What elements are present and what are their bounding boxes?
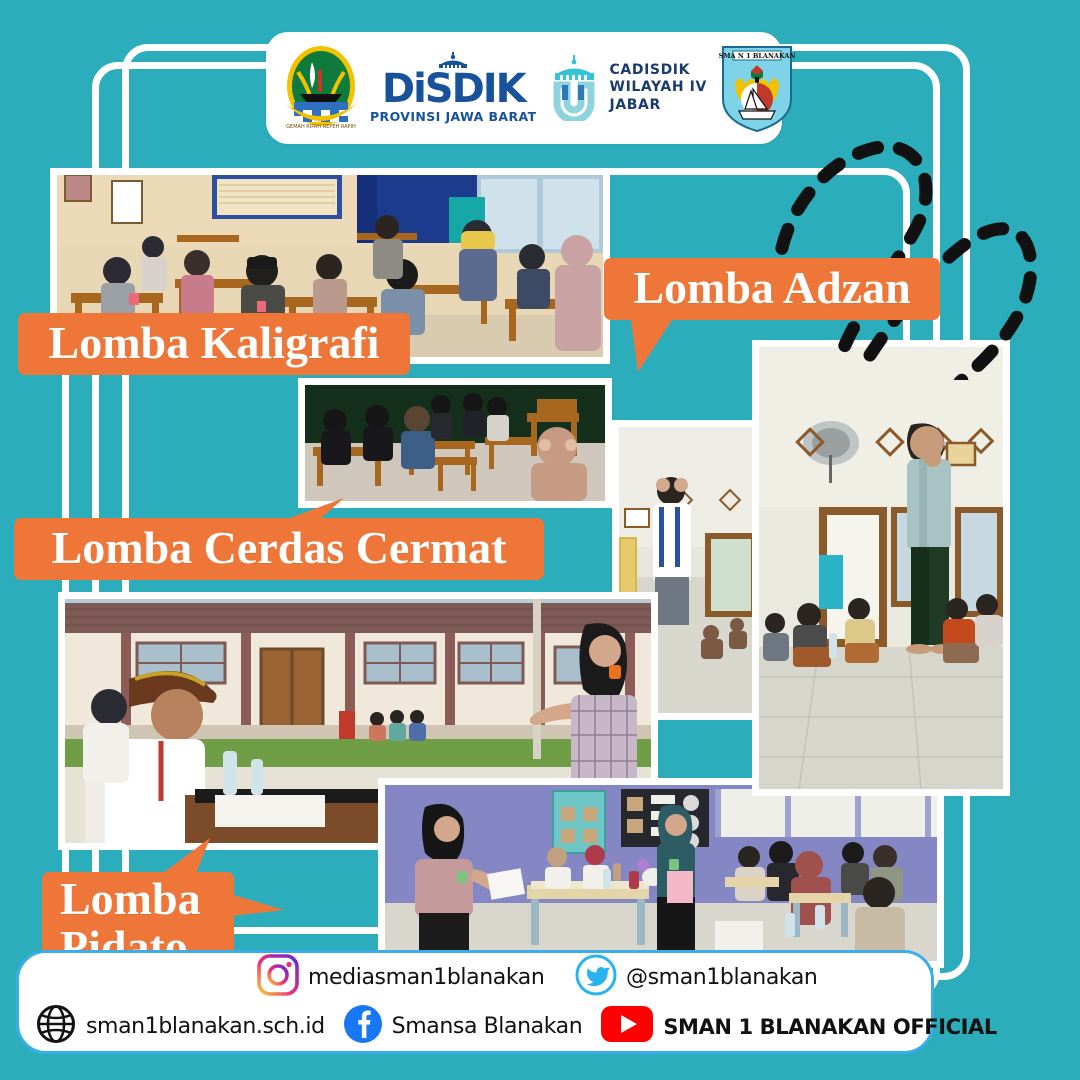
youtube-icon[interactable] <box>600 1004 654 1049</box>
label-kaligrafi-text: Lomba Kaligrafi <box>49 316 380 369</box>
youtube-channel: SMAN 1 BLANAKAN OFFICIAL <box>663 1015 997 1039</box>
footer-item-twitter[interactable]: @sman1blanakan <box>575 954 817 1001</box>
cadisdik-mark-icon <box>547 55 603 121</box>
svg-text:GEMAH RIPAH REPEH RAPIH: GEMAH RIPAH REPEH RAPIH <box>286 124 356 130</box>
header-logo-bar: GEMAH RIPAH REPEH RAPIH DiSDIK PROVINSI <box>266 32 782 144</box>
label-lomba-adzan: Lomba Adzan <box>604 258 940 320</box>
logo-jabar-icon: GEMAH RIPAH REPEH RAPIH <box>282 42 360 134</box>
label-cerdas-text: Lomba Cerdas Cermat <box>52 521 507 574</box>
footer-item-youtube[interactable]: SMAN 1 BLANAKAN OFFICIAL <box>600 1004 997 1049</box>
poster-canvas: GEMAH RIPAH REPEH RAPIH DiSDIK PROVINSI <box>0 0 1080 1080</box>
footer-row-1: mediasman1blanakan @sman1blanakan <box>19 953 931 1002</box>
footer-row-2: sman1blanakan.sch.id Smansa Blanakan <box>19 1002 931 1051</box>
facebook-page: Smansa Blanakan <box>392 1014 583 1039</box>
cadisdik-line3: JABAR <box>610 97 707 115</box>
footer-item-website[interactable]: sman1blanakan.sch.id <box>35 1003 325 1050</box>
footer-social-bar: mediasman1blanakan @sman1blanakan <box>16 950 934 1054</box>
gedung-sate-icon <box>430 52 476 68</box>
logo-disdik-word: DiSDIK <box>382 69 525 109</box>
logo-cadisdik-text: CADISDIK WILAYAH IV JABAR <box>610 62 707 115</box>
website-url: sman1blanakan.sch.id <box>86 1014 325 1039</box>
logo-disdik: DiSDIK PROVINSI JAWA BARAT <box>370 52 537 124</box>
photo-cerdas-cermat <box>298 378 612 508</box>
instagram-icon[interactable] <box>257 954 299 1001</box>
cadisdik-line2: WILAYAH IV <box>610 79 707 97</box>
footer-item-instagram[interactable]: mediasman1blanakan <box>257 954 575 1001</box>
logo-disdik-subtitle: PROVINSI JAWA BARAT <box>370 111 537 124</box>
label-adzan-tail <box>630 314 700 376</box>
label-lomba-kaligrafi: Lomba Kaligrafi <box>18 313 410 375</box>
twitter-handle: @sman1blanakan <box>626 965 817 990</box>
logo-sman1blanakan-icon: SMA N 1 BLANAKAN <box>717 43 797 133</box>
label-pidato-line1: Lomba <box>60 875 201 923</box>
label-lomba-cerdas-cermat: Lomba Cerdas Cermat <box>14 518 544 580</box>
facebook-icon[interactable] <box>343 1004 383 1049</box>
photo-adzan-large <box>752 340 1010 796</box>
instagram-handle: mediasman1blanakan <box>308 965 544 990</box>
globe-icon[interactable] <box>35 1003 77 1050</box>
twitter-icon[interactable] <box>575 954 617 1001</box>
logo-cadisdik: CADISDIK WILAYAH IV JABAR <box>547 55 707 121</box>
photo-kelas <box>378 778 944 968</box>
label-adzan-text: Lomba Adzan <box>633 261 910 314</box>
svg-text:SMA N 1 BLANAKAN: SMA N 1 BLANAKAN <box>719 52 796 60</box>
cadisdik-line1: CADISDIK <box>610 62 707 80</box>
footer-item-facebook[interactable]: Smansa Blanakan <box>343 1004 583 1049</box>
